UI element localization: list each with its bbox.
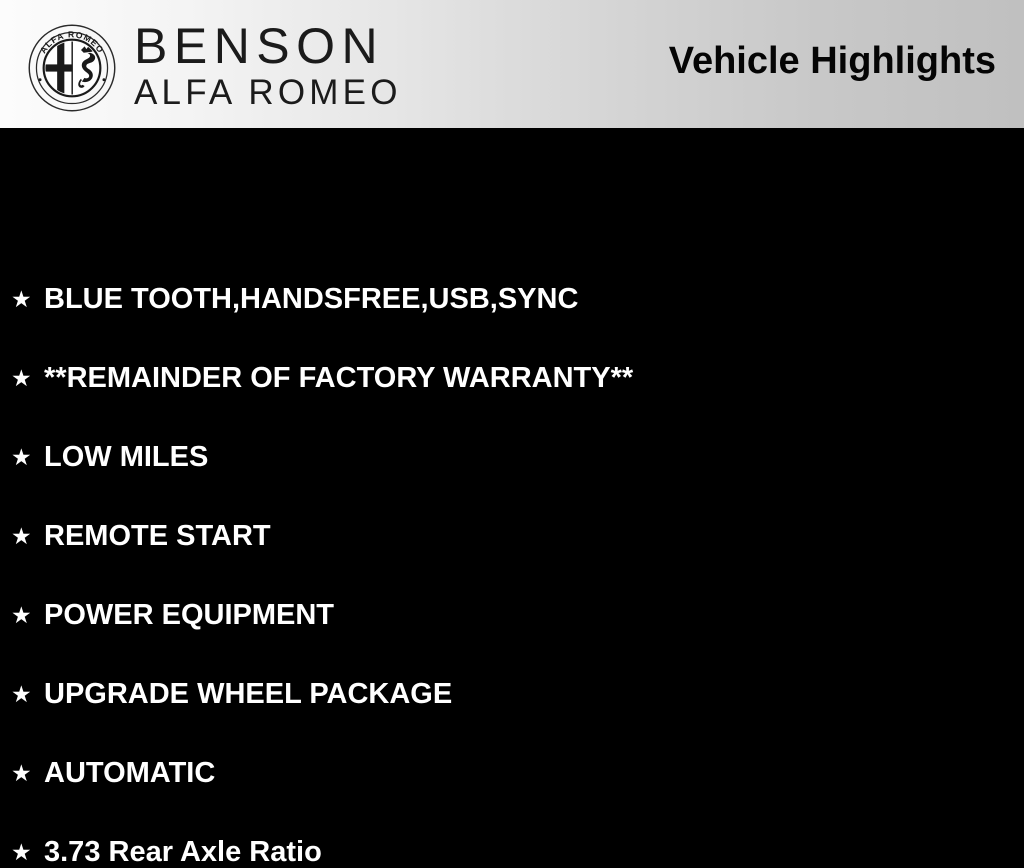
star-bullet-icon: ★ — [11, 288, 35, 311]
dealer-wordmark: BENSON ALFA ROMEO — [134, 20, 454, 112]
list-item: ★ UPGRADE WHEEL PACKAGE — [11, 678, 452, 710]
page-title: Vehicle Highlights — [669, 40, 996, 83]
star-bullet-icon: ★ — [11, 446, 35, 469]
list-item: ★ REMOTE START — [11, 520, 271, 552]
list-item: ★ **REMAINDER OF FACTORY WARRANTY** — [11, 362, 633, 394]
list-item: ★ POWER EQUIPMENT — [11, 599, 334, 631]
alfa-romeo-emblem-icon: ALFA ROMEO — [27, 23, 117, 113]
list-item: ★ BLUE TOOTH,HANDSFREE,USB,SYNC — [11, 283, 578, 315]
list-item: ★ 3.73 Rear Axle Ratio — [11, 836, 322, 868]
list-item: ★ AUTOMATIC — [11, 757, 215, 789]
list-item-label: 3.73 Rear Axle Ratio — [44, 836, 322, 868]
list-item-label: AUTOMATIC — [44, 757, 215, 789]
list-item-label: LOW MILES — [44, 441, 208, 473]
vehicle-highlights-page: ALFA ROMEO — [0, 0, 1024, 768]
star-bullet-icon: ★ — [11, 604, 35, 627]
dealer-brand-subtitle: ALFA ROMEO — [134, 74, 454, 112]
vehicle-highlights-list: ★ BLUE TOOTH,HANDSFREE,USB,SYNC ★ **REMA… — [0, 128, 1024, 768]
list-item-label: REMOTE START — [44, 520, 271, 552]
list-item-label: POWER EQUIPMENT — [44, 599, 334, 631]
list-item-label: **REMAINDER OF FACTORY WARRANTY** — [44, 362, 633, 394]
star-bullet-icon: ★ — [11, 841, 35, 864]
star-bullet-icon: ★ — [11, 525, 35, 548]
list-item-label: BLUE TOOTH,HANDSFREE,USB,SYNC — [44, 283, 578, 315]
dealer-name: BENSON — [134, 20, 454, 72]
list-item: ★ LOW MILES — [11, 441, 208, 473]
list-item-label: UPGRADE WHEEL PACKAGE — [44, 678, 452, 710]
star-bullet-icon: ★ — [11, 367, 35, 390]
star-bullet-icon: ★ — [11, 762, 35, 785]
star-bullet-icon: ★ — [11, 683, 35, 706]
dealer-header-banner: ALFA ROMEO — [0, 0, 1024, 128]
